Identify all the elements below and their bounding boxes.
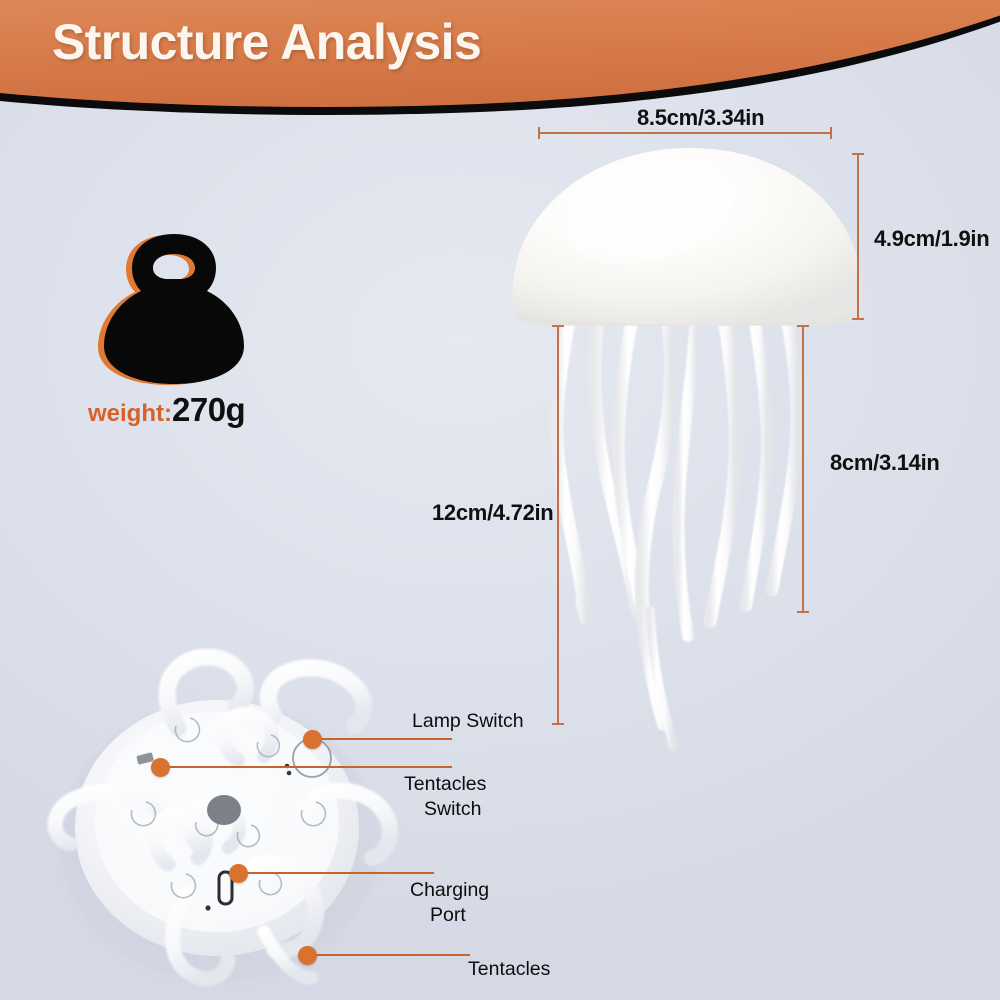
dimension-line-dome-height bbox=[857, 153, 859, 320]
callout-text-line1: Tentacles bbox=[404, 773, 486, 795]
weight-caption: weight:270g bbox=[88, 391, 245, 429]
callout-dot-tentacles bbox=[298, 946, 317, 965]
callout-text-line1: Tentacles bbox=[468, 958, 550, 980]
weight-label: weight: bbox=[88, 400, 172, 427]
callout-text-line1: Charging bbox=[410, 879, 489, 901]
dimension-line-tentacle-span bbox=[802, 325, 804, 613]
power-button bbox=[207, 795, 241, 825]
dimension-label-width: 8.5cm/3.34in bbox=[637, 105, 764, 131]
dimension-line-total-height bbox=[557, 325, 559, 725]
weight-block: weight:270g bbox=[88, 228, 258, 393]
dimension-label-dome-height: 4.9cm/1.9in bbox=[874, 226, 989, 252]
jellyfish-lamp-side-view bbox=[500, 120, 900, 760]
dimension-label-tentacle-span: 8cm/3.14in bbox=[830, 450, 940, 476]
callout-label-tentacles-switch: Tentacles Switch bbox=[404, 772, 486, 822]
indicator-dot bbox=[205, 905, 210, 910]
kettlebell-body bbox=[104, 234, 244, 384]
tentacle-group bbox=[557, 314, 797, 746]
callout-text-line2: Port bbox=[410, 903, 489, 928]
callout-line-tentacles-switch bbox=[160, 766, 452, 768]
callout-line-tentacles bbox=[310, 954, 470, 956]
jellyfish-lamp-underside-view bbox=[12, 632, 432, 1000]
callout-label-lamp-switch: Lamp Switch bbox=[412, 709, 524, 734]
infographic-canvas: Structure Analysis bbox=[0, 0, 1000, 1000]
callout-line-lamp-switch bbox=[318, 738, 452, 740]
indicator-dot bbox=[287, 771, 292, 776]
kettlebell-icon bbox=[88, 228, 258, 388]
callout-line-charging-port bbox=[238, 872, 434, 874]
weight-value: 270g bbox=[172, 391, 245, 428]
dimension-line-width bbox=[538, 132, 832, 134]
callout-label-charging-port: Charging Port bbox=[410, 878, 489, 928]
callout-text-line2: Switch bbox=[404, 797, 486, 822]
callout-dot-tentacles-switch bbox=[151, 758, 170, 777]
dimension-label-total-height: 12cm/4.72in bbox=[432, 500, 553, 526]
callout-text-line1: Lamp Switch bbox=[412, 710, 524, 732]
callout-dot-lamp-switch bbox=[303, 730, 322, 749]
page-title: Structure Analysis bbox=[52, 13, 481, 71]
callout-label-tentacles: Tentacles bbox=[468, 957, 550, 982]
callout-dot-charging-port bbox=[229, 864, 248, 883]
